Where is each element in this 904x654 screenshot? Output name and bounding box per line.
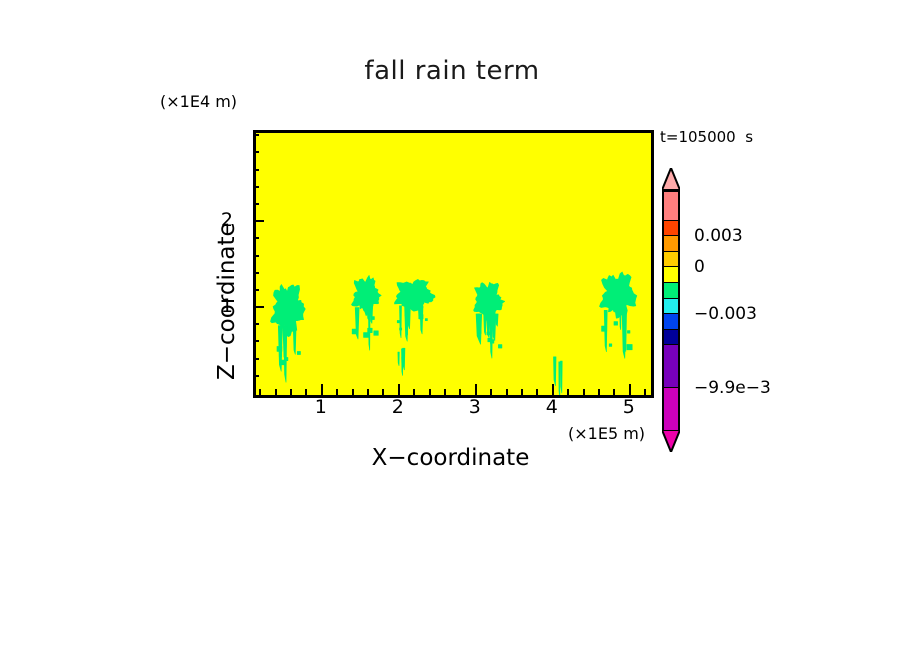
colorbar: 0.0030−0.003−9.9e−3 bbox=[662, 168, 792, 400]
y-tick-minor bbox=[253, 358, 259, 360]
y-tick-minor bbox=[253, 151, 259, 153]
x-tick-label: 4 bbox=[546, 396, 558, 418]
y-axis-unit-label: (×1E4 m) bbox=[160, 92, 237, 111]
y-tick-minor bbox=[253, 134, 259, 136]
colorbar-label: −9.9e−3 bbox=[694, 378, 771, 398]
y-tick-major bbox=[253, 220, 264, 222]
colorbar-label: 0.003 bbox=[694, 226, 743, 246]
y-tick-minor bbox=[253, 237, 259, 239]
x-tick-label: 1 bbox=[315, 396, 327, 418]
x-tick-minor bbox=[536, 389, 538, 395]
y-tick-minor bbox=[253, 169, 259, 171]
x-tick-minor bbox=[613, 389, 615, 395]
colorbar-tick-labels: 0.0030−0.003−9.9e−3 bbox=[662, 168, 792, 400]
y-tick-minor bbox=[253, 340, 259, 342]
x-tick-label: 5 bbox=[623, 396, 635, 418]
y-tick-label: 1 bbox=[0, 295, 233, 317]
x-tick-minor bbox=[583, 389, 585, 395]
x-tick-label: 3 bbox=[469, 396, 481, 418]
x-tick-minor bbox=[521, 389, 523, 395]
y-tick-minor bbox=[253, 203, 259, 205]
colorbar-bottom-arrow-icon bbox=[662, 430, 680, 452]
x-tick-minor bbox=[644, 389, 646, 395]
y-tick-minor bbox=[253, 255, 259, 257]
y-tick-minor bbox=[253, 289, 259, 291]
page-title: fall rain term bbox=[0, 56, 904, 86]
y-axis-ticks bbox=[253, 130, 518, 392]
y-tick-minor bbox=[253, 375, 259, 377]
x-tick-major bbox=[552, 384, 554, 395]
x-tick-label: 2 bbox=[392, 396, 404, 418]
y-tick-minor bbox=[253, 186, 259, 188]
y-tick-minor bbox=[253, 272, 259, 274]
timestamp-label: t=105000 s bbox=[660, 128, 753, 146]
x-tick-minor bbox=[567, 389, 569, 395]
x-tick-minor bbox=[598, 389, 600, 395]
x-axis-tick-labels: 12345 bbox=[253, 0, 648, 1]
y-tick-minor bbox=[253, 323, 259, 325]
y-axis-tick-labels: 12 bbox=[0, 130, 248, 392]
y-tick-label: 2 bbox=[0, 209, 233, 231]
x-tick-major bbox=[629, 384, 631, 395]
x-axis-title: X−coordinate bbox=[253, 445, 648, 471]
colorbar-label: 0 bbox=[694, 257, 705, 277]
y-tick-major bbox=[253, 306, 264, 308]
x-axis-unit-label: (×1E5 m) bbox=[568, 424, 645, 443]
colorbar-label: −0.003 bbox=[694, 304, 757, 324]
